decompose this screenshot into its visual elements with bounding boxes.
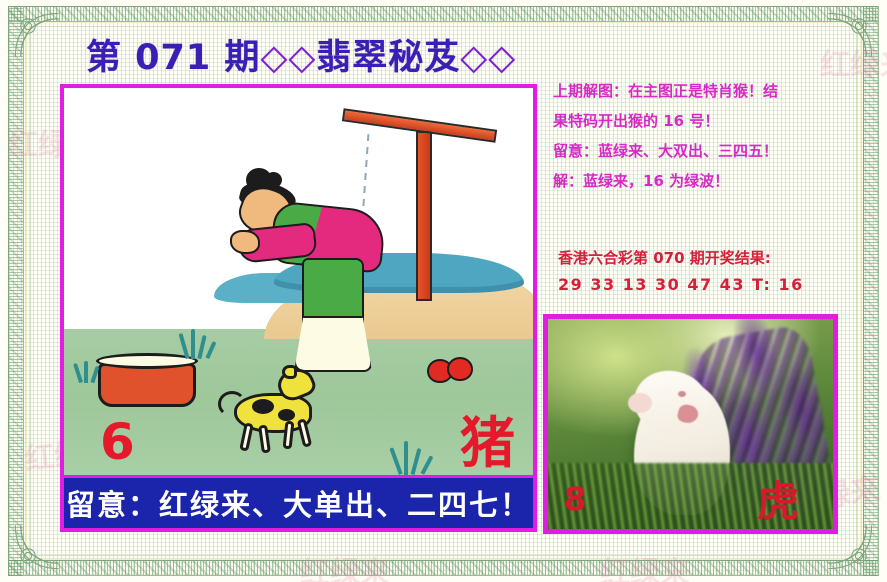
main-lucky-number: 6 — [100, 417, 135, 467]
lottery-poster-page: 红绿来 红绿来 红绿来 红绿来 红绿来 红绿来 第 071 期◇◇翡翠秘芨◇◇ — [0, 0, 887, 582]
dog-leg — [239, 422, 254, 451]
illustration-canvas: 6 猪 — [64, 88, 533, 479]
illustration-grass-tuft — [76, 361, 110, 383]
dog-spot — [278, 409, 295, 421]
main-illustration-card[interactable]: 6 猪 留意：红绿来、大单出、二四七！ — [60, 84, 537, 532]
dog-leg — [283, 421, 295, 450]
illustration-dog — [216, 365, 334, 457]
side-note-line: 果特码开出猴的 16 号！ — [553, 106, 868, 136]
side-note-block: 上期解图：在主图正是特肖猴！结 果特码开出猴的 16 号！ 留意：蓝绿来、大双出… — [553, 76, 868, 196]
illustration-man-figure — [224, 164, 394, 369]
dog-leg — [297, 418, 313, 447]
apple — [447, 357, 473, 381]
ornamental-left-band — [8, 6, 24, 576]
lottery-result-title: 香港六合彩第 070 期开奖结果: — [558, 245, 873, 271]
dog-ear — [282, 365, 297, 379]
lottery-result-block: 香港六合彩第 070 期开奖结果: 29 33 13 30 47 43 T: 1… — [558, 245, 873, 299]
lottery-result-numbers: 29 33 13 30 47 43 T: 16 — [558, 271, 873, 299]
side-note-line: 上期解图：在主图正是特肖猴！结 — [553, 76, 868, 106]
illustration-grass-tuft — [394, 441, 440, 475]
corner-flourish-icon — [10, 8, 64, 62]
main-banner: 留意：红绿来、大单出、二四七！ — [64, 475, 533, 528]
photo-lucky-number: 8 — [564, 483, 586, 515]
photo-guinea-pig-ear — [628, 393, 652, 413]
photo-card[interactable]: 8 虎 — [543, 314, 838, 534]
main-banner-text: 留意：红绿来、大单出、二四七！ — [66, 482, 531, 524]
corner-flourish-icon — [10, 520, 64, 574]
man-robe-white — [294, 316, 372, 372]
watermark-text: 红绿来 — [300, 548, 390, 582]
side-note-line: 解：蓝绿来，16 为绿波！ — [553, 166, 868, 196]
corner-flourish-icon — [823, 8, 877, 62]
illustration-grass-tuft — [182, 329, 222, 359]
watermark-text: 红绿来 — [600, 548, 690, 582]
illustration-basin — [98, 363, 196, 407]
title-diamond-right-icon: ◇◇ — [460, 38, 516, 78]
title-diamond-left-icon: ◇◇ — [260, 38, 316, 78]
page-title-main: 翡翠秘芨 — [316, 38, 460, 78]
illustration-apples — [427, 357, 479, 383]
photo-zodiac-character: 虎 — [757, 481, 799, 523]
side-note-line: 留意：蓝绿来、大双出、三四五！ — [553, 136, 868, 166]
dog-spot — [252, 399, 274, 414]
ornamental-top-band — [8, 6, 879, 22]
main-zodiac-character: 猪 — [460, 416, 515, 471]
man-hand — [230, 230, 260, 254]
photo-guinea-pig-nose — [678, 391, 686, 397]
ornamental-bottom-band — [8, 560, 879, 576]
page-title: 第 071 期◇◇翡翠秘芨◇◇ — [86, 29, 516, 80]
illustration-pole-vertical — [416, 131, 432, 301]
page-title-issue: 第 071 期 — [86, 38, 260, 78]
